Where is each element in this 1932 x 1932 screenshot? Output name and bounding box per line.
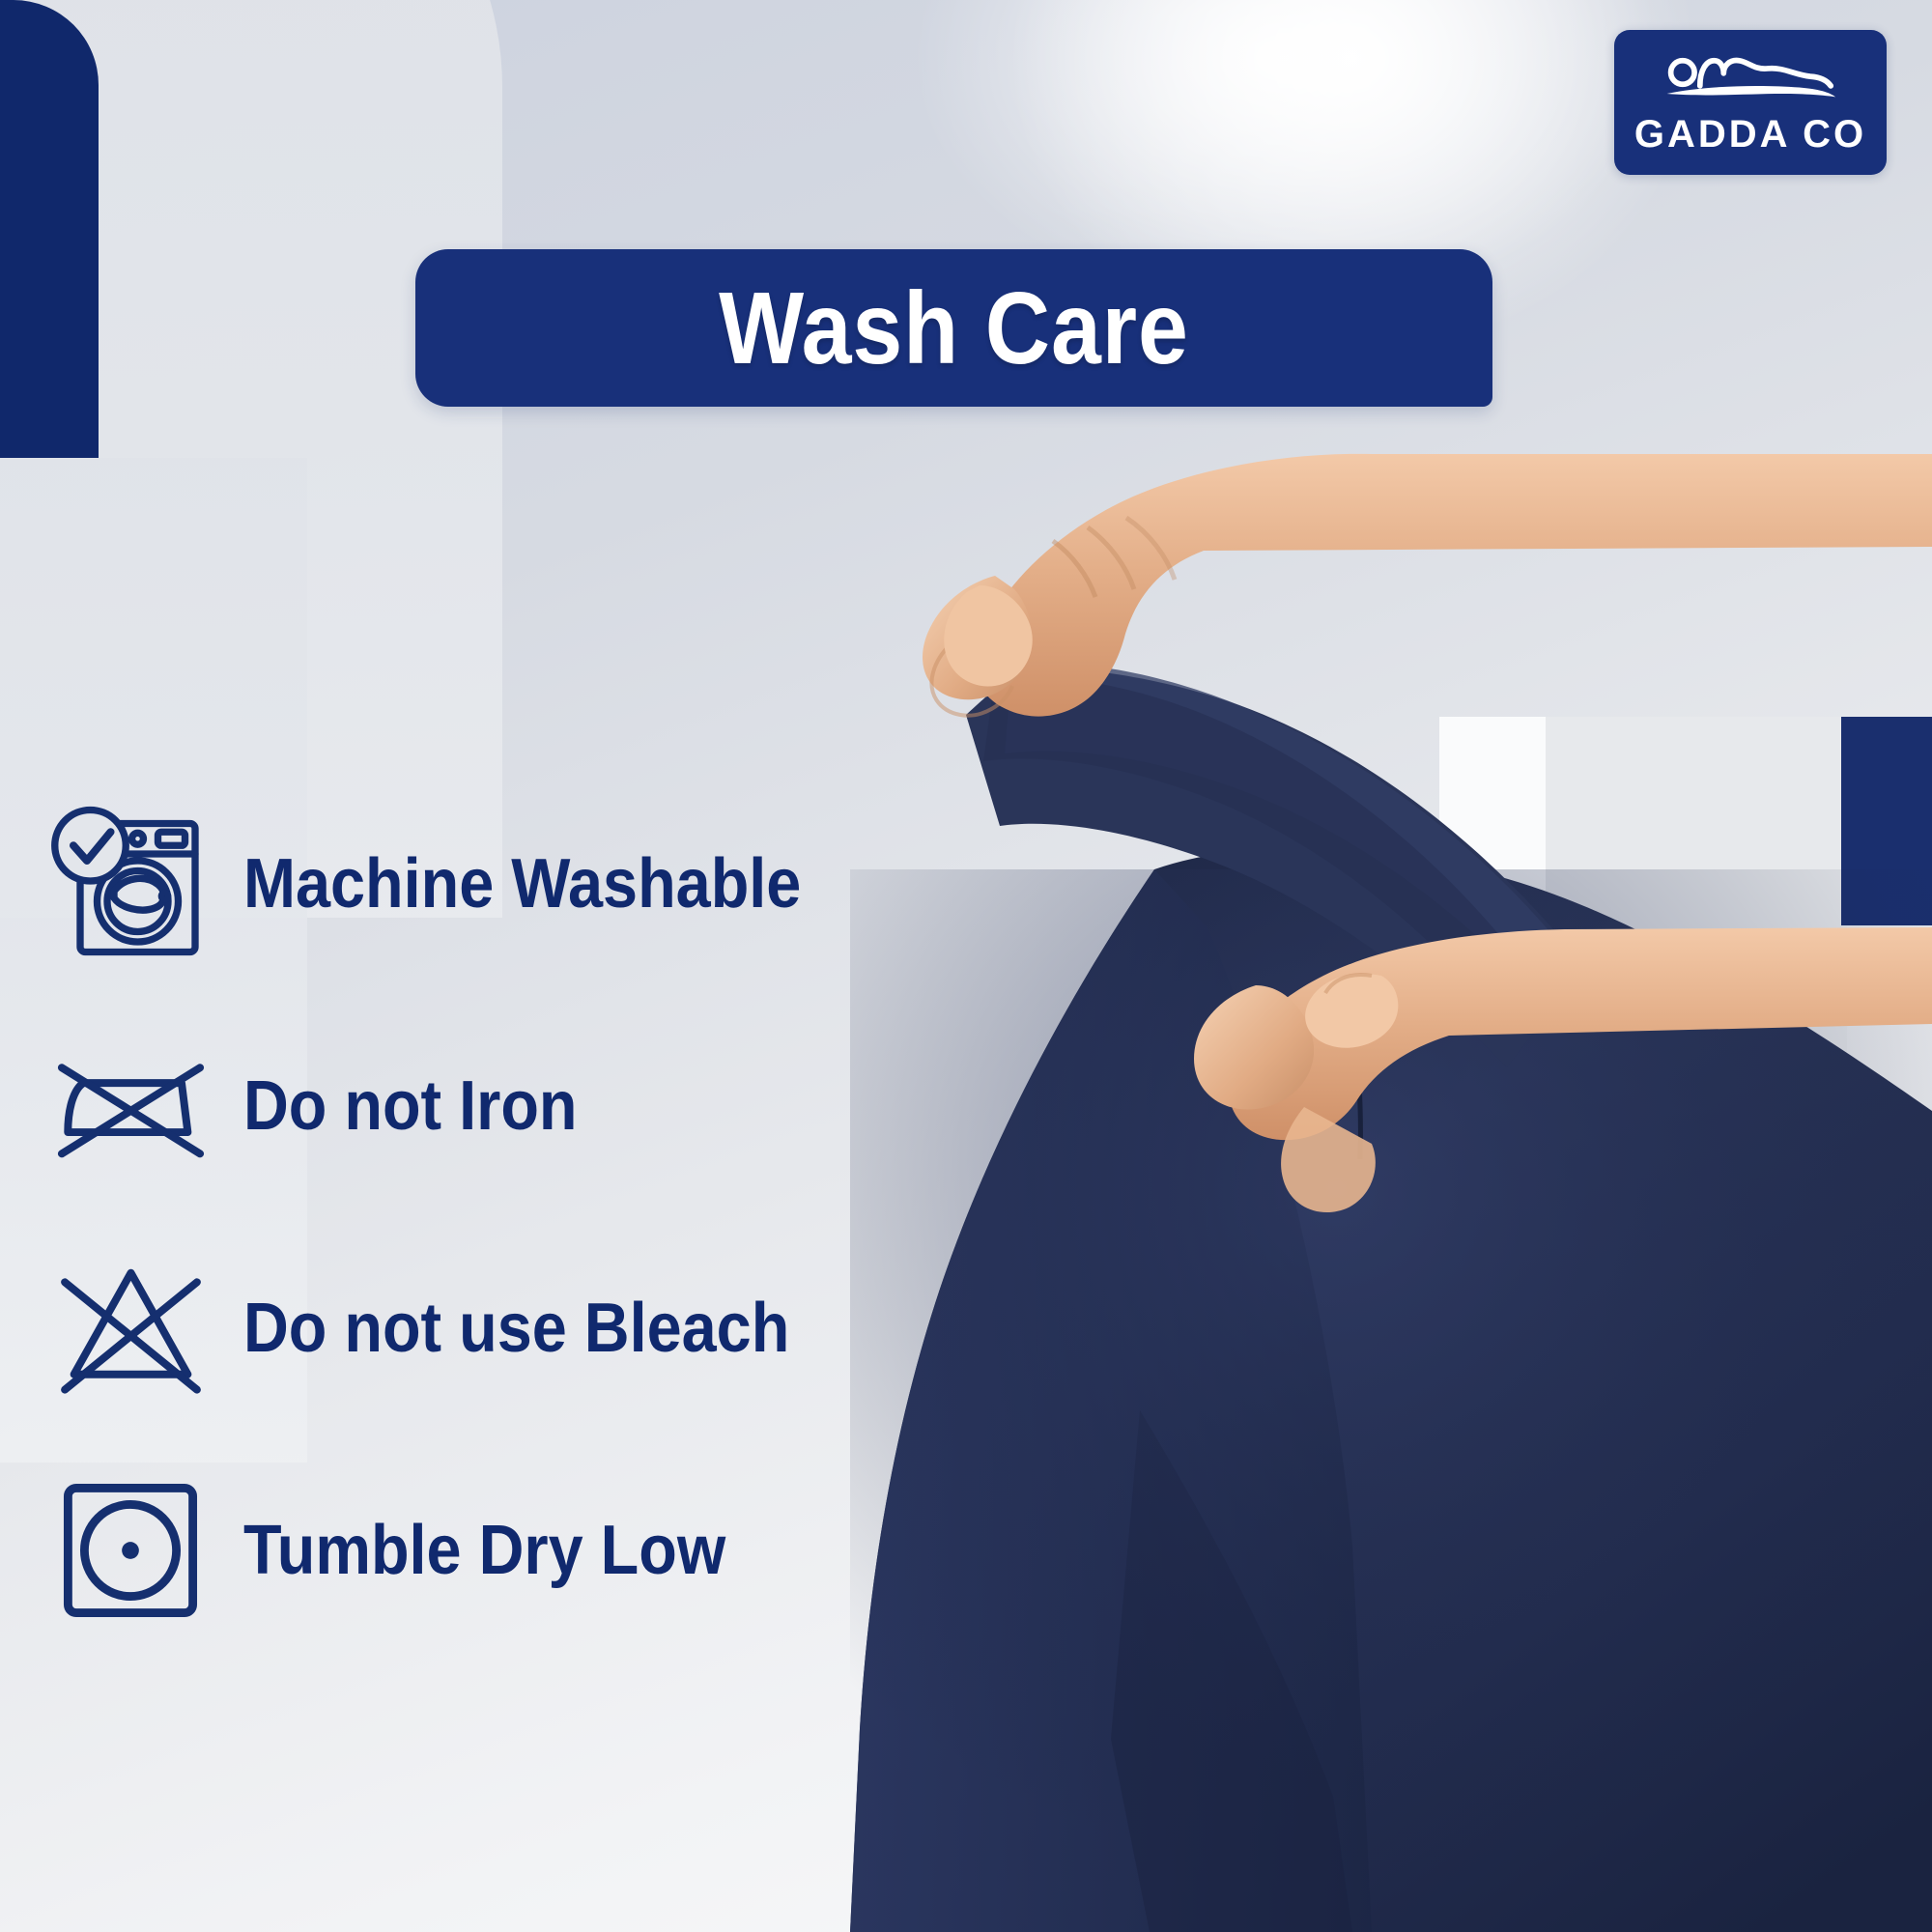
care-row-do-not-bleach: Do not use Bleach (39, 1217, 1082, 1439)
background-panel-white-right (1439, 717, 1553, 1171)
care-label: Do not Iron (243, 1071, 578, 1141)
page-title-banner: Wash Care (415, 249, 1492, 407)
care-label: Tumble Dry Low (243, 1516, 725, 1585)
care-label: Machine Washable (243, 849, 801, 919)
no-iron-icon (39, 1014, 222, 1198)
tumble-dry-low-icon (39, 1459, 222, 1642)
logo-wordmark: GADDA CO (1634, 115, 1866, 154)
care-row-machine-washable: Machine Washable (39, 773, 1082, 995)
no-bleach-triangle-icon (39, 1236, 222, 1420)
sleeping-person-mattress-icon (1655, 51, 1846, 111)
washing-machine-check-icon (39, 792, 222, 976)
care-row-do-not-iron: Do not Iron (39, 995, 1082, 1217)
background-arch-navy (0, 0, 99, 458)
care-row-tumble-dry-low: Tumble Dry Low (39, 1439, 1082, 1662)
background-panel-light-right (1546, 717, 1847, 1171)
page-title: Wash Care (719, 277, 1189, 380)
care-instructions-list: Machine Washable Do not Iron (39, 773, 1082, 1662)
brand-logo[interactable]: GADDA CO (1614, 30, 1887, 175)
background-block-navy-right (1841, 717, 1932, 925)
wash-care-infographic: GADDA CO Wash Care (0, 0, 1932, 1932)
care-label: Do not use Bleach (243, 1293, 789, 1363)
